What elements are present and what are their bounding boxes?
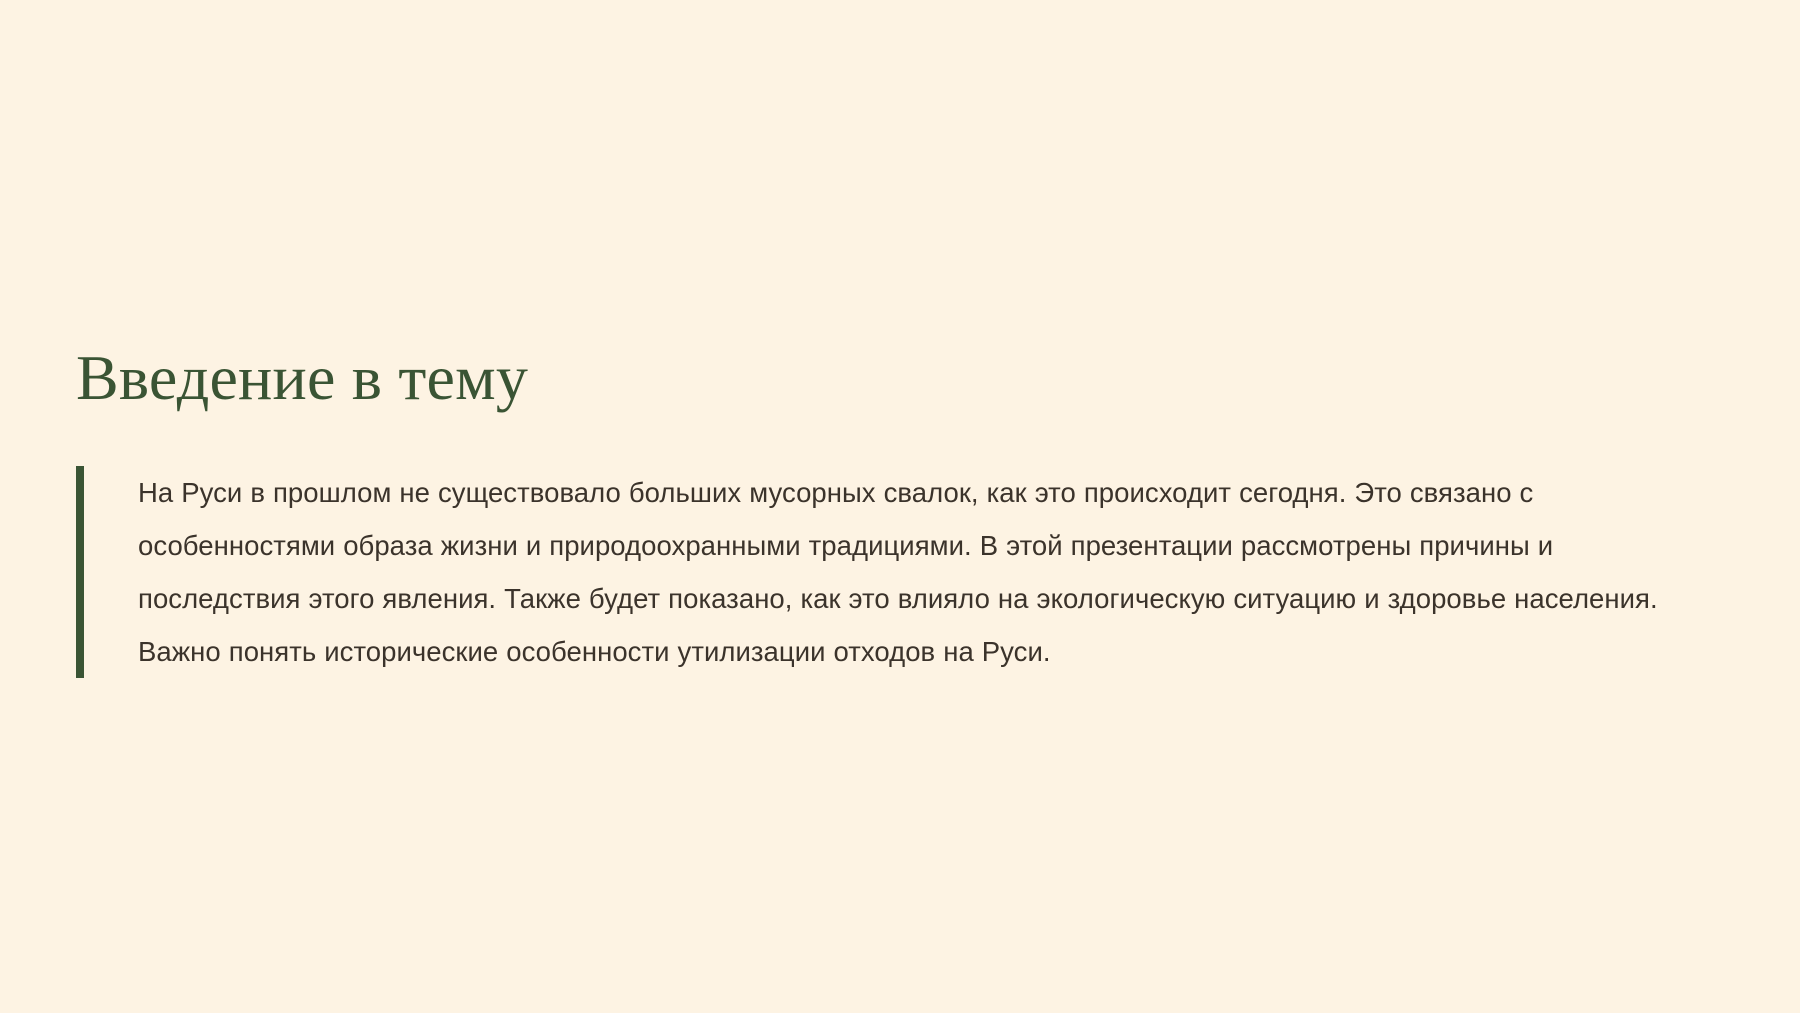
accent-bar — [76, 466, 84, 678]
presentation-slide: Введение в тему На Руси в прошлом не сущ… — [0, 0, 1800, 1013]
body-callout-block: На Руси в прошлом не существовало больши… — [76, 466, 1686, 678]
page-title: Введение в тему — [76, 342, 528, 414]
body-paragraph: На Руси в прошлом не существовало больши… — [84, 466, 1686, 678]
